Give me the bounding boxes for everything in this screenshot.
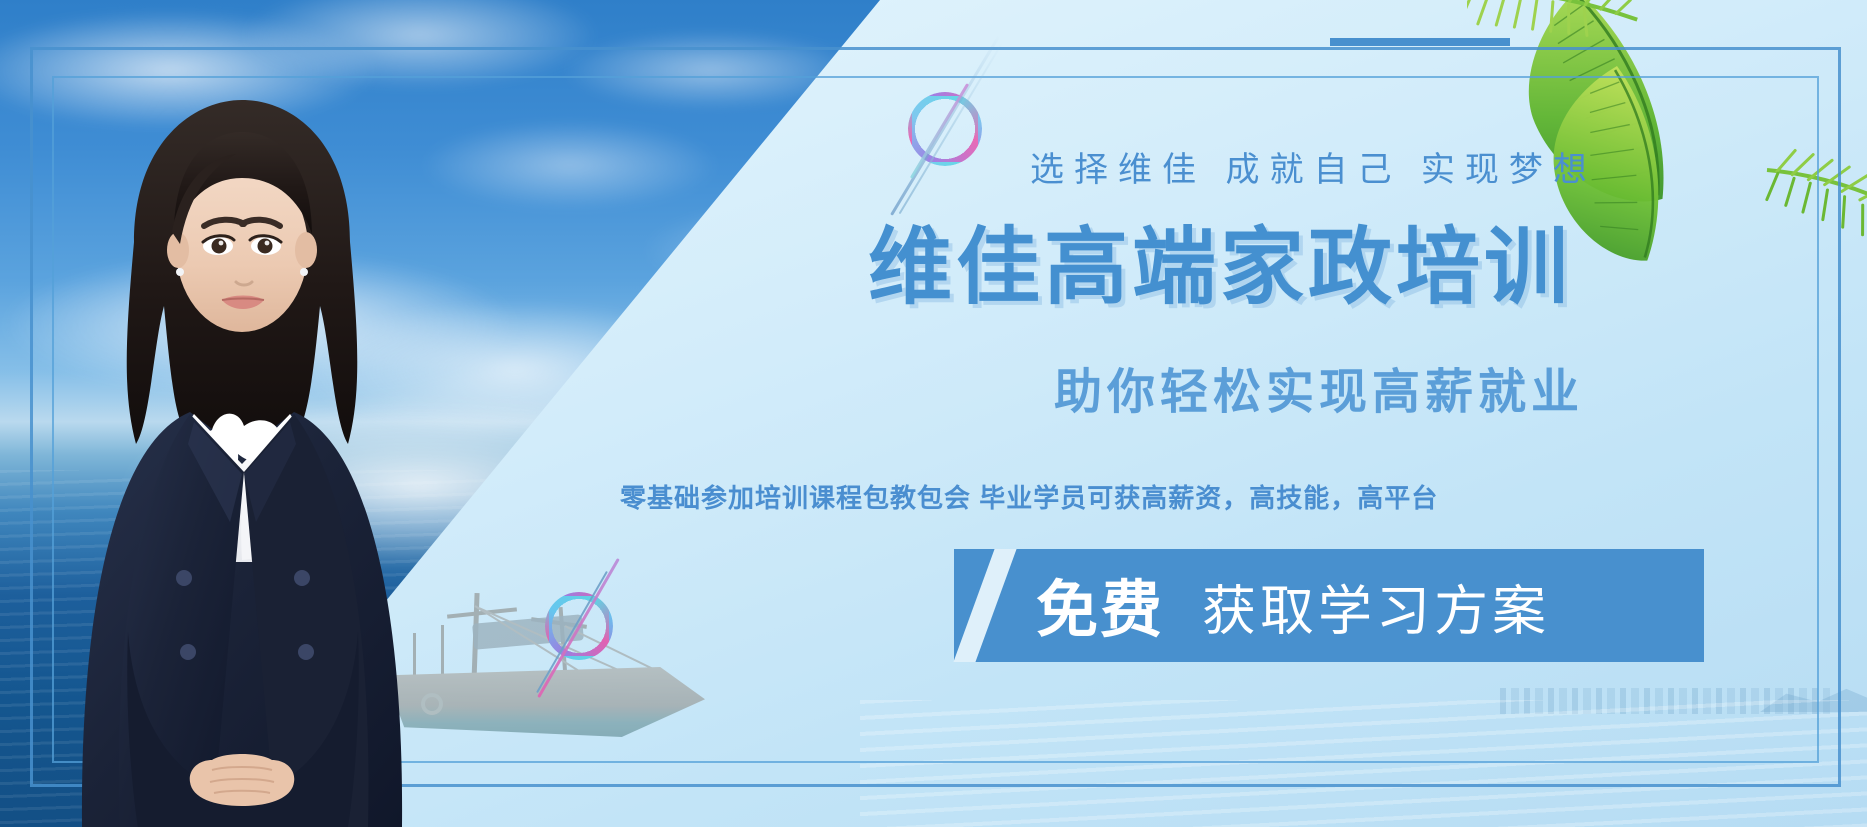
slash-accent-icon — [953, 549, 1016, 662]
jacket-button — [294, 570, 310, 586]
jacket-button — [176, 570, 192, 586]
cta-button[interactable]: 免费 获取学习方案 — [954, 549, 1704, 662]
gradient-ring-icon — [908, 92, 982, 166]
model-photo — [62, 92, 422, 827]
cta-label: 获取学习方案 — [1202, 566, 1550, 645]
cta-emphasis-label: 免费 — [1036, 559, 1164, 649]
banner-subheadline: 助你轻松实现高薪就业 — [1054, 352, 1584, 422]
jacket-button — [298, 644, 314, 660]
circle-slash-motif-icon — [908, 92, 982, 166]
slash-line — [890, 34, 1001, 216]
banner-description: 零基础参加培训课程包教包会 毕业学员可获高薪资，高技能，高平台 — [620, 478, 1438, 515]
promo-banner: 选择维佳 成就自己 实现梦想 维佳高端家政培训 助你轻松实现高薪就业 零基础参加… — [0, 0, 1867, 827]
earring — [176, 268, 184, 276]
earring — [300, 268, 308, 276]
banner-content: 选择维佳 成就自己 实现梦想 维佳高端家政培训 助你轻松实现高薪就业 零基础参加… — [640, 0, 1860, 827]
banner-headline: 维佳高端家政培训 — [868, 200, 1572, 321]
banner-tagline: 选择维佳 成就自己 实现梦想 — [1030, 142, 1597, 191]
jacket-button — [180, 644, 196, 660]
